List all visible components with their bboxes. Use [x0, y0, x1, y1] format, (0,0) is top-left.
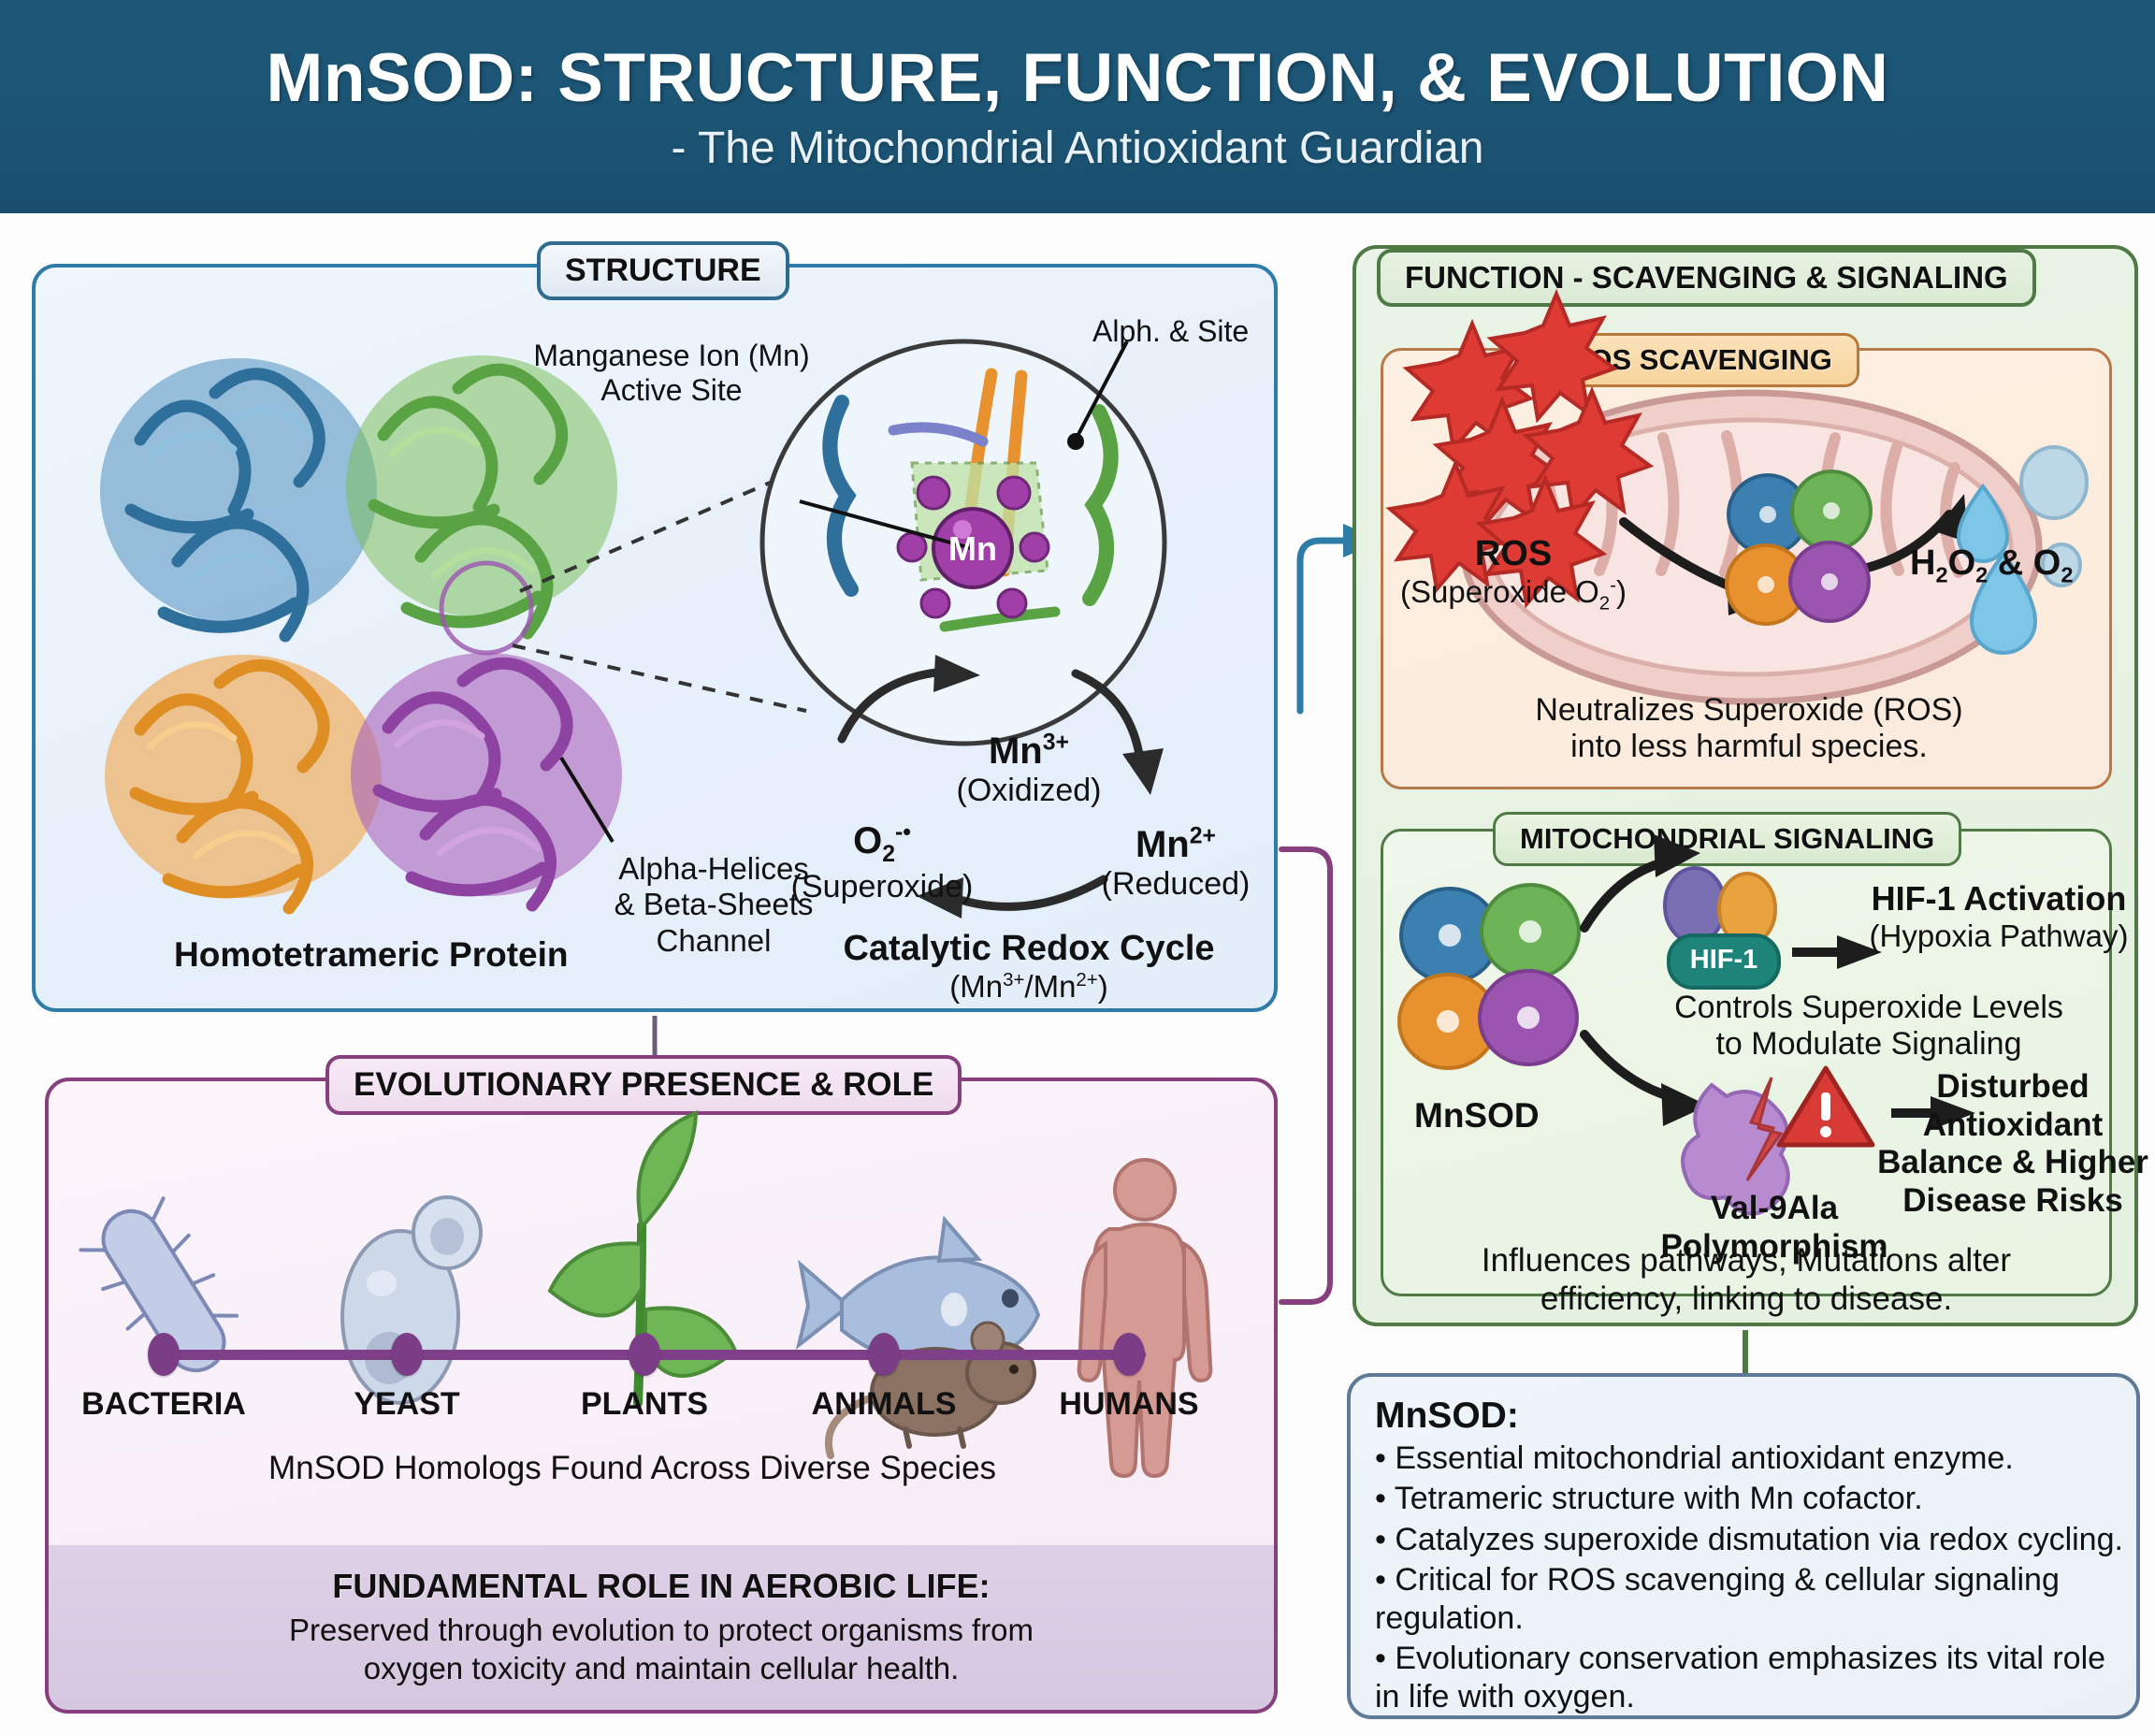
- page-title: MnSOD: STRUCTURE, FUNCTION, & EVOLUTION: [267, 39, 1889, 117]
- homolog-caption: MnSOD Homologs Found Across Diverse Spec…: [230, 1450, 1034, 1488]
- summary-bullet-3: • Catalyzes superoxide dismutation via r…: [1375, 1521, 2123, 1558]
- mn3-node: Mn3+ (Oxidized): [935, 730, 1122, 810]
- page-subtitle: - The Mitochondrial Antioxidant Guardian: [672, 123, 1484, 174]
- homotetrameric-protein-label: Homotetrameric Protein: [174, 935, 569, 976]
- evolution-panel-badge: EVOLUTIONARY PRESENCE & ROLE: [325, 1055, 962, 1115]
- timeline-dot-humans[interactable]: [1113, 1333, 1145, 1376]
- ros-caption: Neutralizes Superoxide (ROS) into less h…: [1403, 692, 2095, 766]
- summary-content: MnSOD: • Essential mitochondrial antioxi…: [1375, 1396, 2123, 1715]
- summary-bullet-5: • Evolutionary conservation emphasizes i…: [1375, 1640, 2123, 1715]
- aerobic-life-title: FUNDAMENTAL ROLE IN AEROBIC LIFE:: [332, 1567, 990, 1606]
- alpha-site-label: Alph. & Site: [1092, 314, 1249, 349]
- species-label-humans: HUMANS: [1003, 1386, 1255, 1423]
- hif1-chip-label: HIF-1: [1669, 945, 1779, 976]
- products-label: H2O2 & O2: [1910, 542, 2073, 588]
- function-panel-badge: FUNCTION - SCAVENGING & SIGNALING: [1377, 249, 2036, 307]
- mn-ion-core-label: Mn: [948, 529, 997, 569]
- mnsod-label: MnSOD: [1414, 1096, 1540, 1136]
- hif1-activation-label: HIF-1 Activation (Hypoxia Pathway): [1844, 879, 2153, 954]
- timeline-dot-bacteria[interactable]: [148, 1333, 180, 1376]
- summary-title: MnSOD:: [1375, 1396, 2123, 1437]
- species-label-yeast: YEAST: [281, 1386, 533, 1423]
- catalytic-redox-cycle-label: Catalytic Redox Cycle (Mn3+/Mn2+): [823, 928, 1235, 1005]
- mn2-node: Mn2+ (Reduced): [1077, 823, 1274, 904]
- timeline-dot-animals[interactable]: [868, 1333, 900, 1376]
- ros-scavenging-badge: ROS SCAVENGING: [1541, 333, 1859, 387]
- species-label-bacteria: BACTERIA: [37, 1386, 290, 1423]
- summary-bullet-2: • Tetrameric structure with Mn cofactor.: [1375, 1480, 2123, 1517]
- mitochondrial-signaling-badge: MITOCHONDRIAL SIGNALING: [1493, 812, 1961, 866]
- summary-bullet-1: • Essential mitochondrial antioxidant en…: [1375, 1439, 2123, 1477]
- aerobic-life-text: Preserved through evolution to protect o…: [289, 1612, 1034, 1688]
- signaling-caption: Influences pathways; Mutations alter eff…: [1396, 1242, 2097, 1318]
- summary-bullet-4: • Critical for ROS scavenging & cellular…: [1375, 1561, 2123, 1637]
- controls-superoxide-caption: Controls Superoxide Levels to Modulate S…: [1626, 990, 2112, 1063]
- page-header: MnSOD: STRUCTURE, FUNCTION, & EVOLUTION …: [0, 0, 2155, 213]
- disturbed-balance-label: Disturbed Antioxidant Balance & Higher D…: [1873, 1068, 2153, 1220]
- aerobic-life-footer: FUNDAMENTAL ROLE IN AEROBIC LIFE: Preser…: [45, 1545, 1278, 1714]
- manganese-ion-label: Manganese Ion (Mn) Active Site: [513, 339, 831, 408]
- timeline-dot-plants[interactable]: [629, 1333, 660, 1376]
- timeline-dot-yeast[interactable]: [391, 1333, 423, 1376]
- ros-left-label: ROS (Superoxide O2-): [1382, 533, 1644, 615]
- species-label-plants: PLANTS: [518, 1386, 771, 1423]
- superoxide-node: O2-• (Superoxide): [765, 819, 999, 905]
- species-label-animals: ANIMALS: [758, 1386, 1010, 1423]
- structure-panel-badge: STRUCTURE: [537, 241, 789, 300]
